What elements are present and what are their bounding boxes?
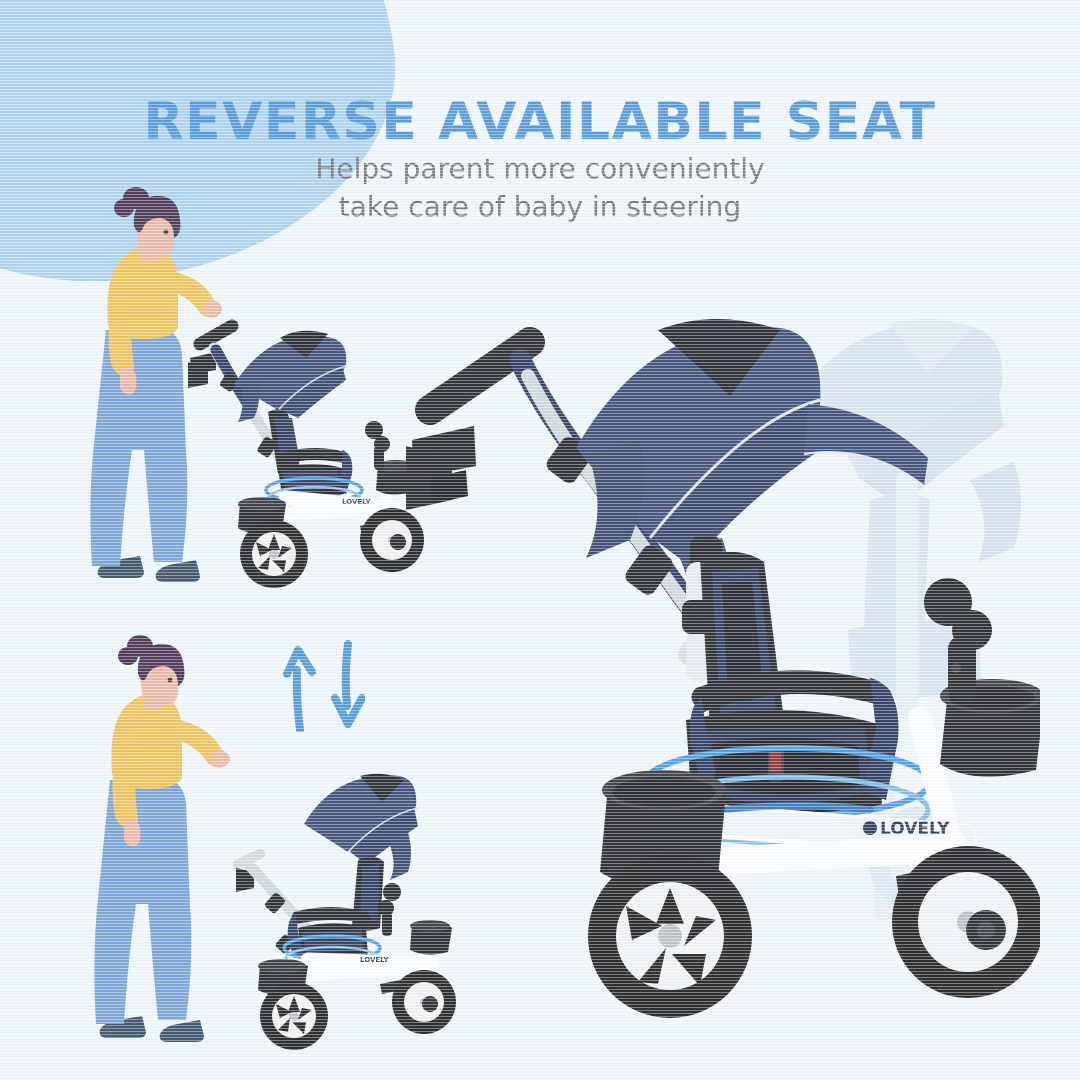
parent-figure-bottom-body xyxy=(94,635,230,1042)
brand-logo-small-bottom: LOVELY xyxy=(360,956,390,964)
parent-figure-top xyxy=(62,182,222,582)
reverse-arrows xyxy=(283,640,365,732)
parent-figure-bottom xyxy=(66,624,231,1044)
tricycle-small-top-graphic: LOVELY xyxy=(188,326,424,588)
page-title: REVERSE AVAILABLE SEAT xyxy=(0,92,1080,152)
tricycle-hero-graphic: LOVELY xyxy=(406,319,1040,1018)
page-subtitle: Helps parent more conveniently take care… xyxy=(0,150,1080,225)
brand-logo-text: LOVELY xyxy=(880,819,950,839)
subtitle-line-2: take care of baby in steering xyxy=(0,188,1080,226)
down-arrow-icon xyxy=(331,640,365,732)
parent-figure-top-body xyxy=(90,187,222,582)
up-arrow-icon xyxy=(283,640,317,732)
brand-logo-small-top: LOVELY xyxy=(342,498,372,506)
subtitle-line-1: Helps parent more conveniently xyxy=(0,150,1080,188)
tricycle-hero: LOVELY xyxy=(400,300,1040,1040)
product-feature-image: REVERSE AVAILABLE SEAT Helps parent more… xyxy=(0,0,1080,1080)
